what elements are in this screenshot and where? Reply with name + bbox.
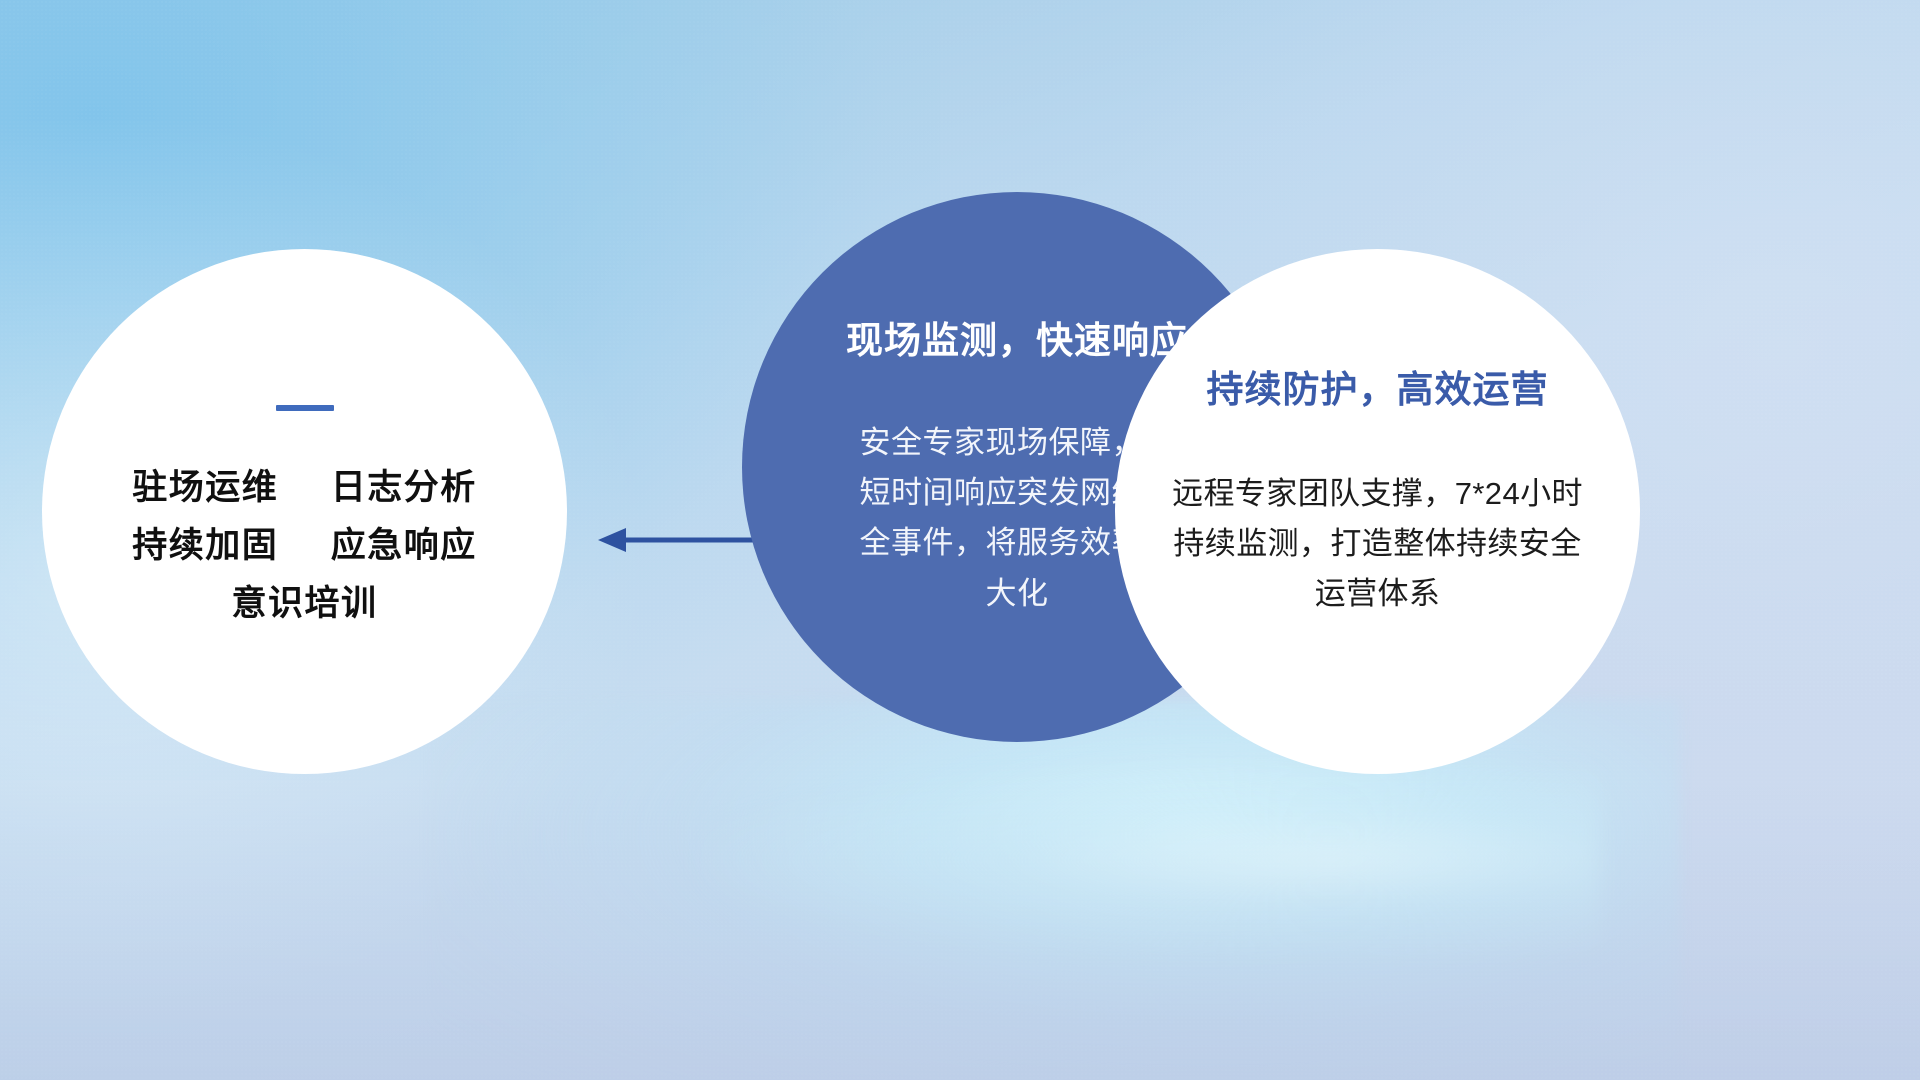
left-circle-service-list: 驻场运维 日志分析 持续加固 应急响应 意识培训 [132,459,477,633]
list-row: 持续加固 应急响应 [132,517,477,575]
service-item-4: 应急响应 [331,526,477,565]
slide-canvas: 驻场运维 日志分析 持续加固 应急响应 意识培训 现场监测，快速响应 安全专家现… [0,0,1920,1080]
left-circle-card[interactable]: 驻场运维 日志分析 持续加固 应急响应 意识培训 [42,249,567,774]
service-item-1: 驻场运维 [132,468,278,507]
right-circle-title: 持续防护，高效运营 [1207,359,1549,413]
service-item-3: 持续加固 [132,526,278,565]
right-circle-card[interactable]: 持续防护，高效运营 远程专家团队支撑，7*24小时持续监测，打造整体持续安全运营… [1115,249,1640,774]
flow-arrow-head [598,528,626,552]
center-circle-title: 现场监测，快速响应 [846,310,1188,364]
service-item-5: 意识培训 [231,584,377,623]
service-item-2: 日志分析 [331,468,477,507]
divider-dash [276,405,334,411]
right-circle-body: 远程专家团队支撑，7*24小时持续监测，打造整体持续安全运营体系 [1168,469,1588,620]
list-row: 驻场运维 日志分析 [132,459,477,517]
list-row: 意识培训 [132,575,477,633]
